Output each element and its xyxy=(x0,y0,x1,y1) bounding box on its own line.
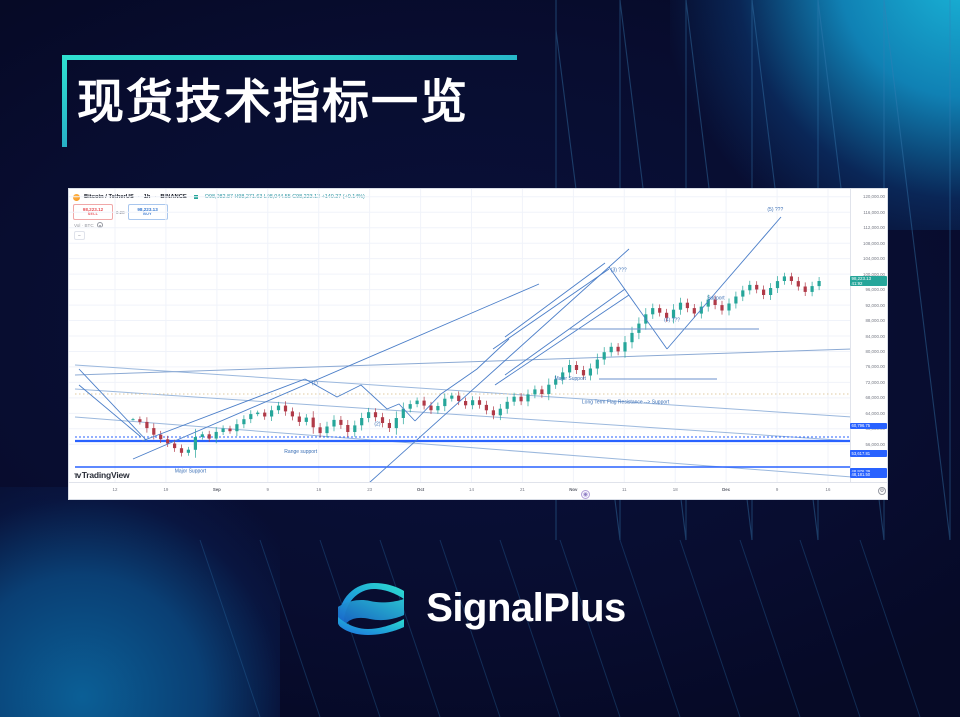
tradingview-chart-panel[interactable]: Bitcoin / TetherUS · 1h · BINANCE O98,08… xyxy=(68,188,888,500)
price-axis-tick: 80,000.00 xyxy=(865,349,885,354)
gear-icon[interactable]: ⚙ xyxy=(878,487,886,495)
price-axis-tick: 88,000.00 xyxy=(865,318,885,323)
chart-annotation-label: (2) xyxy=(374,422,380,428)
major-support-line xyxy=(75,349,852,375)
range-support-band xyxy=(75,437,852,467)
time-axis-tick: 19 xyxy=(163,487,168,492)
price-axis-tick: 76,000.00 xyxy=(865,364,885,369)
tradingview-logo[interactable]: ᴛᴠ TradingView xyxy=(74,470,129,480)
time-axis-tick: Nov xyxy=(569,487,577,492)
price-axis-tick: 92,000.00 xyxy=(865,303,885,308)
slide-root: 现货技术指标一览 Bitcoin / TetherUS · 1h · BINAN… xyxy=(0,0,960,717)
time-axis-tick: 14 xyxy=(469,487,474,492)
chart-annotation-label: (3) ??? xyxy=(611,267,627,273)
chart-annotation-label: Major Support xyxy=(175,469,207,475)
price-axis[interactable]: 120,000.00116,000.00112,000.00108,000.00… xyxy=(850,189,887,483)
time-axis-tick: Sep xyxy=(213,487,221,492)
time-axis-tick: 23 xyxy=(367,487,372,492)
price-axis-tick: 116,000.00 xyxy=(863,210,885,215)
price-axis-tick: 72,000.00 xyxy=(865,380,885,385)
time-axis-tick: 12 xyxy=(113,487,118,492)
clock-icon[interactable]: ◉ xyxy=(581,490,590,499)
brand-footer: SignalPlus xyxy=(0,577,960,639)
time-axis-tick: 18 xyxy=(673,487,678,492)
chart-annotation-label: Support xyxy=(707,295,725,301)
chart-annotations: (1)(2)(3) ???(4) ???(5) ???SupportMajor … xyxy=(175,207,784,475)
title-accent-bar-top xyxy=(62,55,517,60)
title-accent-bar-left xyxy=(62,55,67,147)
time-axis-tick: Dec xyxy=(722,487,730,492)
page-title: 现货技术指标一览 xyxy=(77,77,469,126)
current-price-countdown: 41:92 xyxy=(852,281,863,286)
chart-annotation-label: (5) ??? xyxy=(767,207,783,213)
chart-annotation-label: Major Support xyxy=(555,376,587,382)
chart-annotation-label: (1) xyxy=(312,381,318,387)
brand-name: SignalPlus xyxy=(426,586,626,631)
time-axis[interactable]: ◉ ⚙ 1219Sep91623Oct1421Nov1118Dec916 xyxy=(69,482,888,499)
price-axis-tick: 96,000.00 xyxy=(865,287,885,292)
chart-annotation-label: Range support xyxy=(284,449,317,455)
current-price-marker: 98,223.1341:92 xyxy=(850,276,887,286)
price-axis-tick: 84,000.00 xyxy=(865,334,885,339)
time-axis-tick: Oct xyxy=(417,487,424,492)
tradingview-mark: ᴛᴠ xyxy=(74,470,80,480)
price-axis-tick: 68,000.00 xyxy=(865,395,885,400)
chart-plot-area[interactable]: (1)(2)(3) ???(4) ???(5) ???SupportMajor … xyxy=(69,189,852,483)
chart-annotation-label: Long Term Flag Resistance --> Support xyxy=(582,400,670,406)
time-axis-tick: 9 xyxy=(267,487,269,492)
time-axis-tick: 9 xyxy=(776,487,778,492)
time-axis-tick: 16 xyxy=(826,487,831,492)
price-axis-tick: 120,000.00 xyxy=(863,194,885,199)
price-axis-tick: 56,000.00 xyxy=(865,442,885,447)
time-axis-tick: 11 xyxy=(622,487,627,492)
price-axis-tick: 64,000.00 xyxy=(865,411,885,416)
price-axis-tick: 112,000.00 xyxy=(863,225,885,230)
signalplus-wave-logo-icon xyxy=(334,577,408,639)
chart-annotation-label: (4) ??? xyxy=(664,317,680,323)
price-level-marker: 53,617.81 xyxy=(850,451,887,457)
time-axis-tick: 21 xyxy=(520,487,525,492)
price-axis-tick: 108,000.00 xyxy=(863,241,885,246)
long-term-flag-channel xyxy=(75,365,852,477)
time-axis-tick: 16 xyxy=(316,487,321,492)
tradingview-label: TradingView xyxy=(82,470,130,480)
price-level-marker: 60,796.75 xyxy=(850,423,887,429)
price-axis-tick: 104,000.00 xyxy=(863,256,885,261)
price-level-marker: 48,181.50 xyxy=(850,472,887,478)
